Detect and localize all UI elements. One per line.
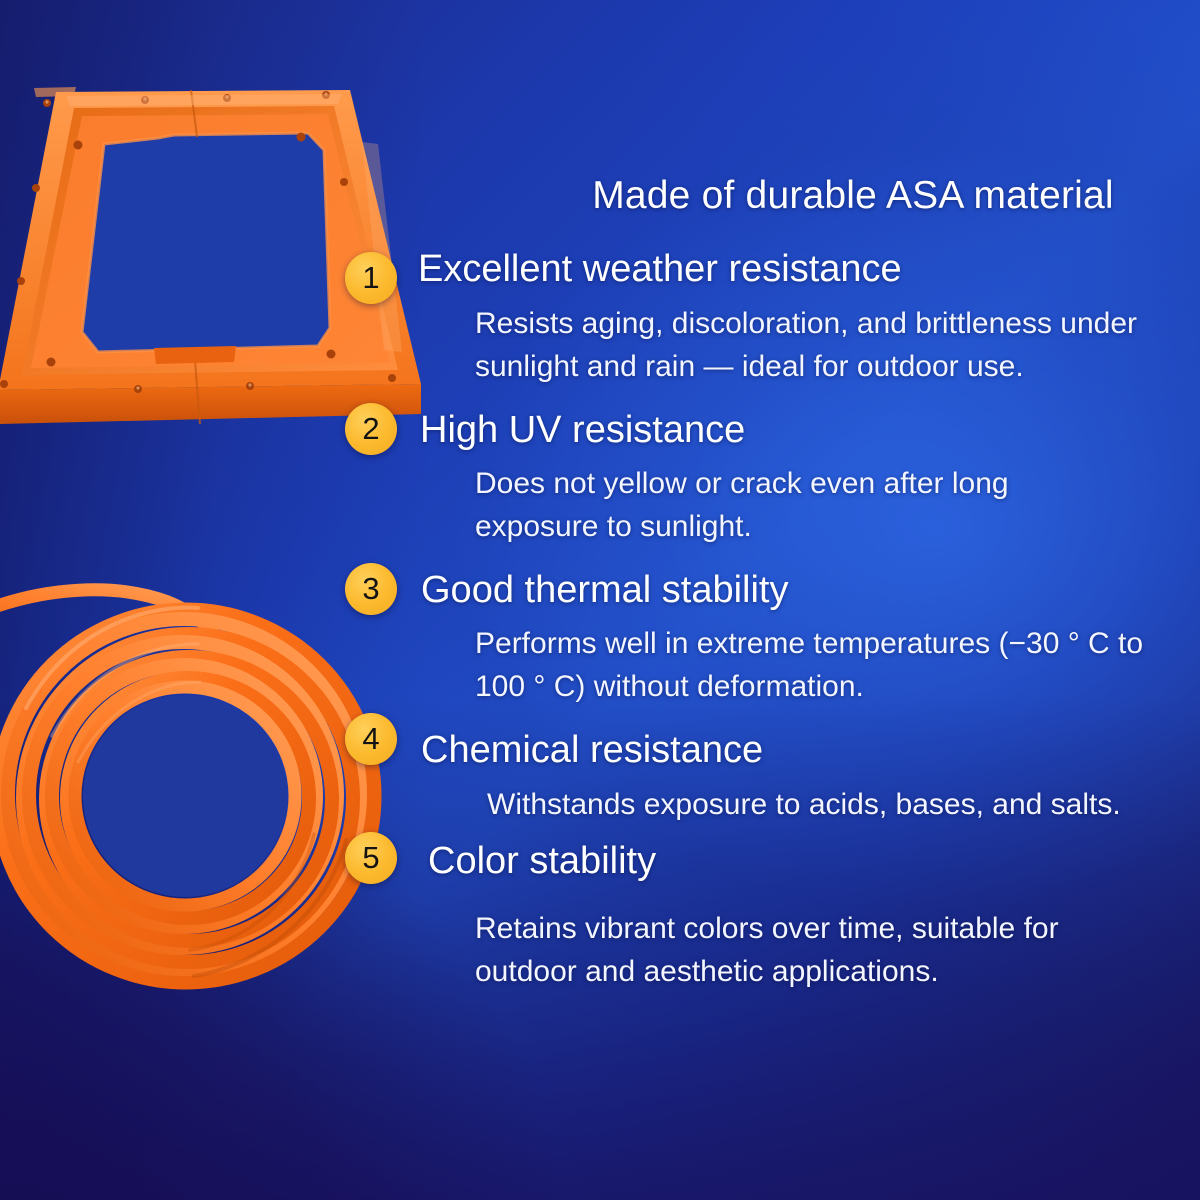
feature-badge-number-4: 4 [362,723,379,754]
feature-badge-5: 5 [345,832,397,884]
feature-badge-4: 4 [345,713,397,765]
feature-heading-3: Good thermal stability [421,571,789,611]
feature-badge-1: 1 [345,252,397,304]
feature-badge-3: 3 [345,563,397,615]
feature-heading-1: Excellent weather resistance [418,250,902,290]
feature-list: 1 Excellent weather resistance Resists a… [0,0,1200,1200]
feature-heading-5: Color stability [428,842,656,882]
feature-heading-4: Chemical resistance [421,731,763,771]
feature-badge-number-1: 1 [362,262,379,293]
feature-badge-number-2: 2 [362,413,379,444]
feature-description-1: Resists aging, discoloration, and brittl… [475,303,1187,388]
feature-description-4: Withstands exposure to acids, bases, and… [487,784,1187,827]
feature-description-2: Does not yellow or crack even after long… [475,463,1095,548]
feature-badge-2: 2 [345,403,397,455]
infographic-canvas: Made of durable ASA material 1 Excellent… [0,0,1200,1200]
feature-heading-2: High UV resistance [420,411,745,451]
feature-badge-number-3: 3 [362,573,379,604]
feature-badge-number-5: 5 [362,842,379,873]
feature-description-5: Retains vibrant colors over time, suitab… [475,908,1155,993]
feature-description-3: Performs well in extreme temperatures (−… [475,623,1191,708]
